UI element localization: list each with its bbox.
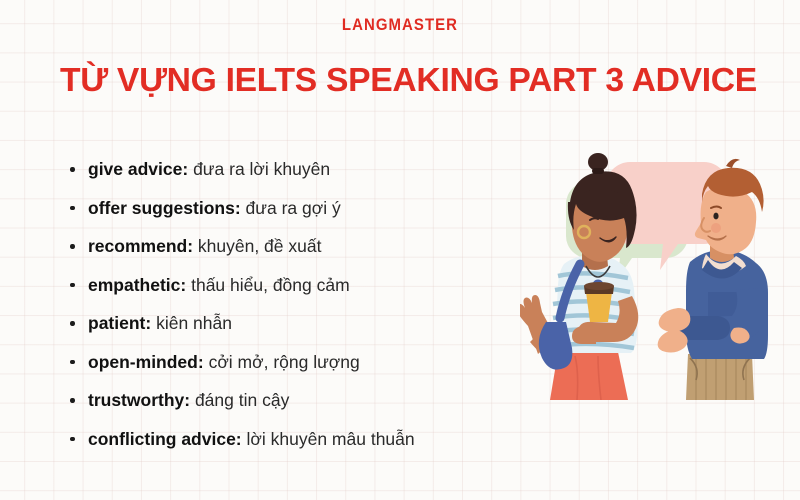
- vocab-term: open-minded:: [88, 352, 204, 372]
- list-item: recommend: khuyên, đề xuất: [62, 227, 492, 266]
- list-item: give advice: đưa ra lời khuyên: [62, 150, 492, 189]
- vocab-term: patient:: [88, 313, 151, 333]
- list-item: conflicting advice: lời khuyên mâu thuẫn: [62, 420, 492, 459]
- vocab-meaning: đáng tin cậy: [195, 390, 289, 410]
- conversation-illustration: [520, 140, 800, 400]
- vocab-term: conflicting advice:: [88, 429, 242, 449]
- woman-figure-illustration: [520, 153, 638, 400]
- brand-logo-langmaster: LANGMASTER: [48, 15, 752, 35]
- list-item: patient: kiên nhẫn: [62, 304, 492, 343]
- vocab-meaning: cởi mở, rộng lượng: [209, 352, 360, 372]
- vocab-meaning: khuyên, đề xuất: [198, 236, 322, 256]
- vocab-meaning: đưa ra lời khuyên: [193, 159, 330, 179]
- list-item: trustworthy: đáng tin cậy: [62, 381, 492, 420]
- vocab-term: recommend:: [88, 236, 193, 256]
- vocab-meaning: thấu hiểu, đồng cảm: [191, 275, 350, 295]
- vocab-term: empathetic:: [88, 275, 186, 295]
- page-title: TỪ VỰNG IELTS SPEAKING PART 3 ADVICE: [60, 60, 764, 100]
- vocabulary-list: give advice: đưa ra lời khuyên offer sug…: [62, 150, 492, 458]
- vocab-term: give advice:: [88, 159, 188, 179]
- vocab-term: offer suggestions:: [88, 198, 241, 218]
- list-item: open-minded: cởi mở, rộng lượng: [62, 343, 492, 382]
- vocab-term: trustworthy:: [88, 390, 190, 410]
- vocab-meaning: kiên nhẫn: [156, 313, 232, 333]
- slide-canvas: LANGMASTER TỪ VỰNG IELTS SPEAKING PART 3…: [0, 0, 800, 500]
- list-item: empathetic: thấu hiểu, đồng cảm: [62, 266, 492, 305]
- list-item: offer suggestions: đưa ra gợi ý: [62, 189, 492, 228]
- vocab-meaning: đưa ra gợi ý: [246, 198, 341, 218]
- vocab-meaning: lời khuyên mâu thuẫn: [247, 429, 415, 449]
